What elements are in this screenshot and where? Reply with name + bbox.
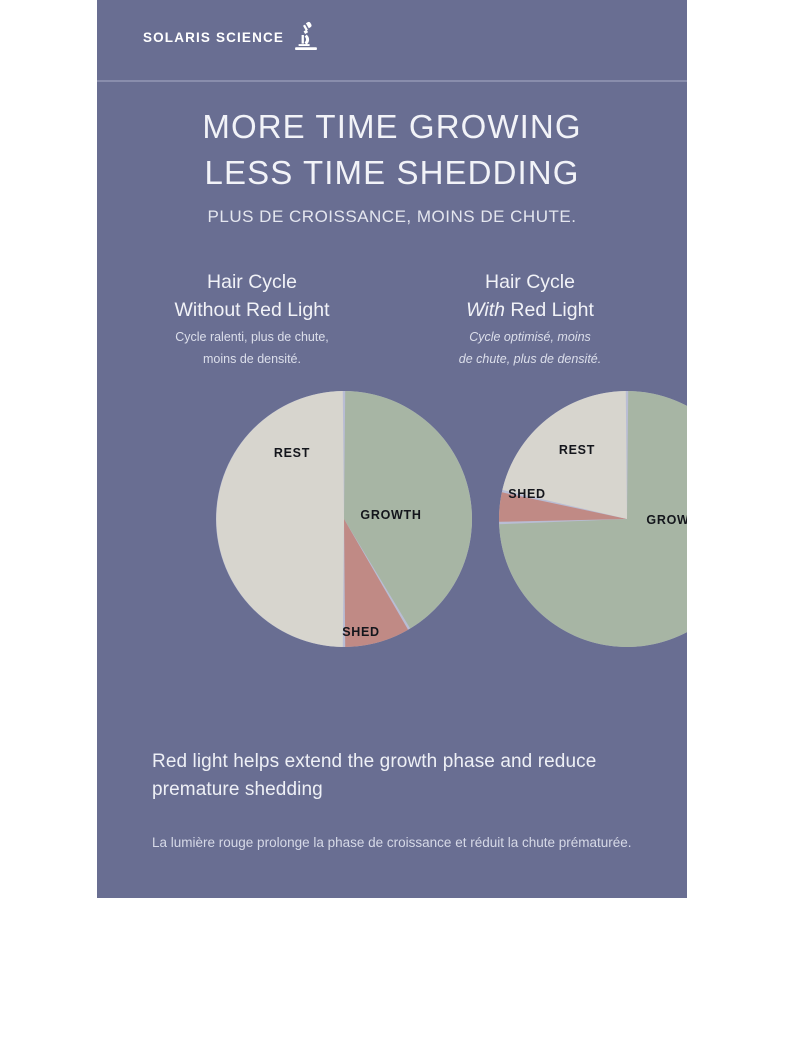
footer-subtitle-fr: La lumière rouge prolonge la phase de cr… xyxy=(152,831,642,854)
panel-heading-line-1: Hair Cycle xyxy=(112,268,392,296)
panel-heading-line-2: Without Red Light xyxy=(112,296,392,324)
pie-label-shed: SHED xyxy=(508,487,546,501)
microscope-icon xyxy=(293,24,319,51)
headline-line-1: MORE TIME GROWING xyxy=(97,104,687,150)
header-divider xyxy=(97,80,687,82)
panel-subtitle-line-2: de chute, plus de densité. xyxy=(390,351,670,368)
footer-block: Red light helps extend the growth phase … xyxy=(152,748,642,854)
panel-heading-rest: Red Light xyxy=(241,299,330,321)
panel-subtitle-line-1: Cycle optimisé, moins xyxy=(390,329,670,346)
brand-lockup: SOLARIS SCIENCE xyxy=(143,24,319,51)
pie-label-rest: REST xyxy=(559,443,595,457)
panel-subtitle-line-1: Cycle ralenti, plus de chute, xyxy=(112,329,392,346)
panel-subtitle-line-2: moins de densité. xyxy=(112,351,392,368)
brand-header: SOLARIS SCIENCE xyxy=(97,0,687,80)
brand-name: SOLARIS SCIENCE xyxy=(143,31,284,45)
panel-heading-emphasis: With xyxy=(466,299,505,321)
panel-heading-line-2: With Red Light xyxy=(390,296,670,324)
headline-block: MORE TIME GROWING LESS TIME SHEDDING PLU… xyxy=(97,104,687,230)
pie-label-growth: GROWTH xyxy=(646,513,687,527)
chart-panel-with-red-light: Hair Cycle With Red Light Cycle optimisé… xyxy=(390,268,670,368)
chart-panel-without-red-light: Hair Cycle Without Red Light Cycle ralen… xyxy=(112,268,392,368)
headline-line-2: LESS TIME SHEDDING xyxy=(97,150,687,196)
panel-heading-emphasis: Without xyxy=(174,299,240,321)
panel-heading-line-1: Hair Cycle xyxy=(390,268,670,296)
pie-chart-with-red-light: GROWTH REST SHED xyxy=(498,390,687,648)
pie-label-shed: SHED xyxy=(342,625,380,639)
footer-headline: Red light helps extend the growth phase … xyxy=(152,748,642,804)
pie-chart-without-red-light: GROWTH REST SHED xyxy=(215,390,473,648)
pie-slice-rest xyxy=(216,391,344,647)
panel-heading-rest: Red Light xyxy=(505,299,594,321)
poster-canvas: SOLARIS SCIENCE MORE TIME GROWI xyxy=(97,0,687,898)
pie-label-growth: GROWTH xyxy=(360,508,421,522)
headline-subtitle-fr: PLUS DE CROISSANCE, MOINS DE CHUTE. xyxy=(97,204,687,230)
pie-label-rest: REST xyxy=(274,446,310,460)
